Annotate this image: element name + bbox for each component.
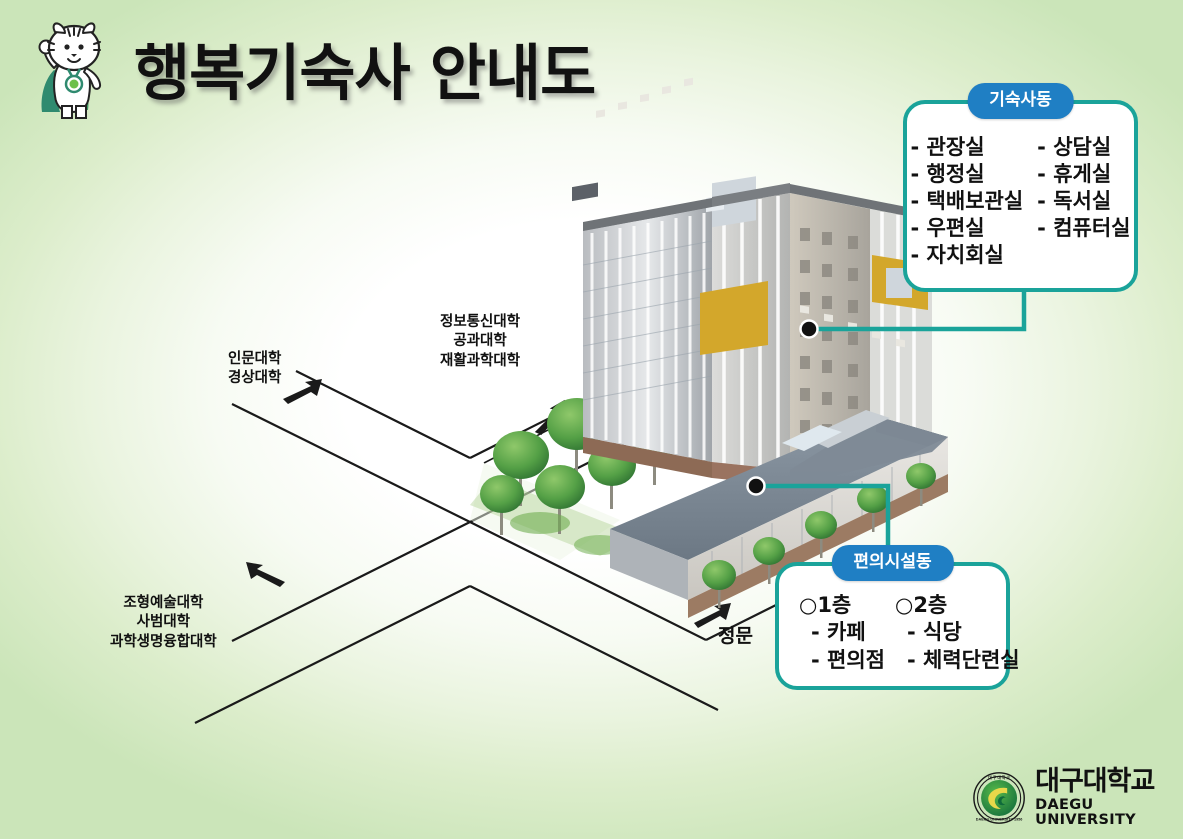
dormitory-room-column-2: - 상담실 - 휴게실 - 독서실 - 컴퓨터실 — [1037, 134, 1130, 269]
callout-dormitory-body: - 관장실 - 행정실 - 택배보관실 - 우편실 - 자치회실 - 상담실 -… — [907, 104, 1134, 279]
callout-dormitory-title: 기숙사동 — [967, 83, 1074, 119]
road-label-humanities: 인문대학 경상대학 — [228, 350, 281, 389]
road-label-line: 정문 — [718, 624, 753, 649]
dormitory-room-item: - 행정실 — [911, 161, 1024, 188]
dormitory-room-column-1: - 관장실 - 행정실 - 택배보관실 - 우편실 - 자치회실 — [911, 134, 1024, 269]
road-label-line: 사범대학 — [110, 613, 217, 632]
logo-name-ko: 대구대학교 — [1035, 768, 1183, 795]
dormitory-room-item: - 독서실 — [1037, 188, 1130, 215]
road-label-line: 공과대학 — [440, 332, 520, 351]
dormitory-room-item: - 상담실 — [1037, 134, 1130, 161]
dormitory-room-item: - 휴게실 — [1037, 161, 1130, 188]
road-label-ict: 정보통신대학 공과대학 재활과학대학 — [440, 313, 520, 371]
callout-convenience-body: ○1층 - 카페 - 편의점 ○2층 - 식당 - 체력단련실 — [779, 566, 1006, 682]
dormitory-room-item: - 우편실 — [911, 215, 1024, 242]
road-label-line: 과학생명융합대학 — [110, 633, 217, 652]
convenience-floor-1: ○1층 - 카페 - 편의점 — [799, 592, 885, 674]
road-label-arts: 조형예술대학 사범대학 과학생명융합대학 — [110, 594, 217, 652]
dormitory-room-item: - 택배보관실 — [911, 188, 1024, 215]
arrow-to-humanities — [283, 379, 322, 404]
callout-dormitory: 기숙사동 - 관장실 - 행정실 - 택배보관실 - 우편실 - 자치회실 - … — [903, 100, 1138, 292]
road-label-line: 정보통신대학 — [440, 313, 520, 332]
road-label-line: 조형예술대학 — [110, 594, 217, 613]
floor-facility-item: - 체력단련실 — [895, 647, 1020, 674]
dormitory-room-item: - 컴퓨터실 — [1037, 215, 1130, 242]
road-label-line: 경상대학 — [228, 369, 281, 388]
dormitory-map-poster: 행복기숙사 안내도 인문대학 경상대학 정보통신대학 공과대학 재활과학대학 조… — [0, 0, 1183, 839]
poster-header: 행복기숙사 안내도 — [24, 18, 595, 128]
callout-convenience: 편의시설동 ○1층 - 카페 - 편의점 ○2층 - 식당 - 체력단련실 — [775, 562, 1010, 690]
dorm-anchor-dot — [801, 321, 818, 338]
svg-text:DAEGU UNIVERSITY 1956: DAEGU UNIVERSITY 1956 — [976, 817, 1023, 821]
callout-convenience-title: 편의시설동 — [831, 545, 953, 581]
logo-name-en: DAEGU UNIVERSITY — [1035, 798, 1183, 827]
page-title: 행복기숙사 안내도 — [134, 43, 595, 104]
arrow-to-arts — [246, 562, 285, 587]
dormitory-room-item: - 자치회실 — [911, 242, 1024, 269]
daegu-university-emblem-icon: 대 구 대 학 교 DAEGU UNIVERSITY 1956 — [973, 769, 1025, 827]
road-label-line: 인문대학 — [228, 350, 281, 369]
logo-wordmark: 대구대학교 DAEGU UNIVERSITY — [1035, 768, 1183, 827]
floor-facility-item: - 편의점 — [799, 647, 885, 674]
floor-facility-item: - 식당 — [895, 619, 1020, 646]
convenience-anchor-dot — [748, 478, 765, 495]
road-label-main-gate: 정문 — [718, 624, 753, 649]
floor-facility-item: - 카페 — [799, 619, 885, 646]
road-label-line: 재활과학대학 — [440, 352, 520, 371]
convenience-floor-2: ○2층 - 식당 - 체력단련실 — [895, 592, 1020, 674]
svg-text:대 구 대 학 교: 대 구 대 학 교 — [988, 775, 1010, 780]
floor-heading: ○1층 — [799, 592, 885, 619]
floor-heading: ○2층 — [895, 592, 1020, 619]
university-logo: 대 구 대 학 교 DAEGU UNIVERSITY 1956 대구대학교 DA… — [973, 768, 1183, 827]
white-tiger-mascot-icon — [24, 18, 120, 128]
dormitory-room-item: - 관장실 — [911, 134, 1024, 161]
